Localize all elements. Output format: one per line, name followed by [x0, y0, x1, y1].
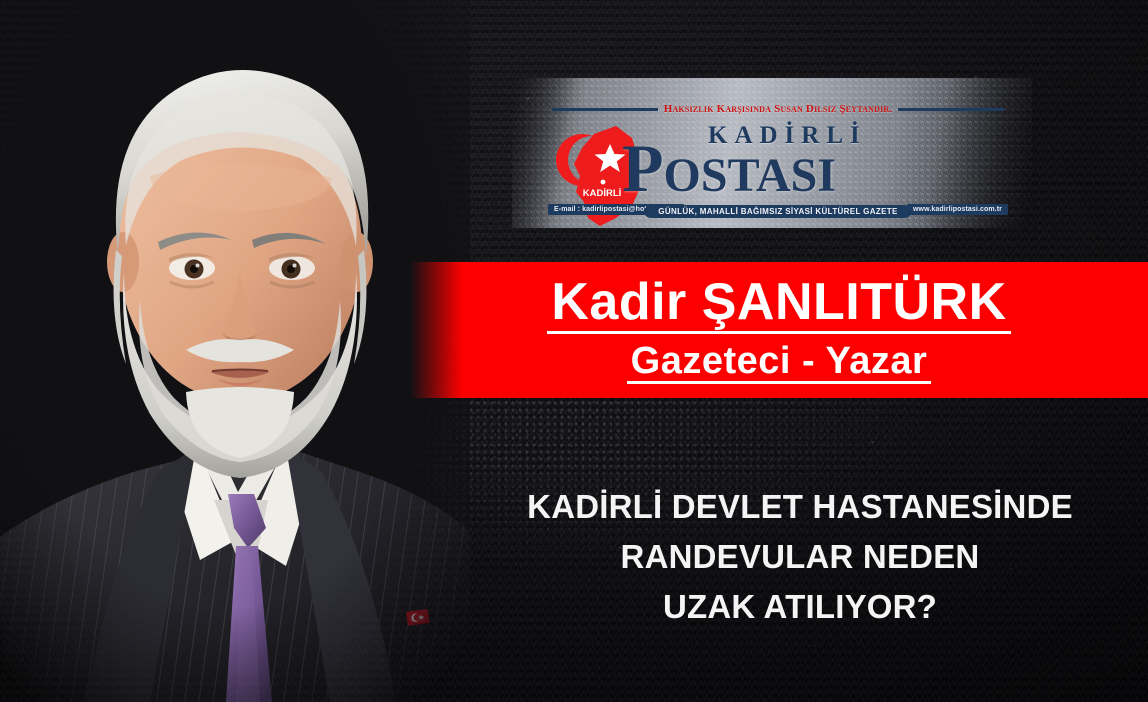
- masthead-tagline: GÜNLÜK, MAHALLİ BAĞIMSIZ SİYASİ KÜLTÜREL…: [644, 205, 911, 218]
- article-headline: KADİRLİ DEVLET HASTANESİNDE RANDEVULAR N…: [470, 482, 1130, 632]
- author-name: Kadir ŞANLITÜRK: [547, 276, 1010, 334]
- article-banner-graphic: Haksızlık Karşısında Susan Dilsiz Şeytan…: [0, 0, 1148, 702]
- headline-line-1: KADİRLİ DEVLET HASTANESİNDE: [470, 482, 1130, 532]
- masthead-website[interactable]: www.kadirlipostasi.com.tr: [907, 204, 1008, 215]
- masthead-slogan: Haksızlık Karşısında Susan Dilsiz Şeytan…: [664, 103, 893, 115]
- headline-line-3: UZAK ATILIYOR?: [470, 582, 1130, 632]
- author-name-banner: Kadir ŞANLITÜRK Gazeteci - Yazar: [410, 262, 1148, 398]
- slogan-rule-right: [898, 108, 1004, 111]
- logo-city-label: KADİRLİ: [583, 188, 622, 199]
- masthead-postasi-word: Postası: [622, 134, 836, 202]
- author-role: Gazeteci - Yazar: [627, 342, 932, 385]
- slogan-rule-left: [552, 108, 658, 111]
- newspaper-masthead: Haksızlık Karşısında Susan Dilsiz Şeytan…: [512, 78, 1032, 228]
- headline-line-2: RANDEVULAR NEDEN: [470, 532, 1130, 582]
- masthead-footer-row: E-mail : kadirlipostasi@hotmail.com GÜNL…: [548, 204, 1008, 220]
- author-portrait-photo: [0, 0, 470, 702]
